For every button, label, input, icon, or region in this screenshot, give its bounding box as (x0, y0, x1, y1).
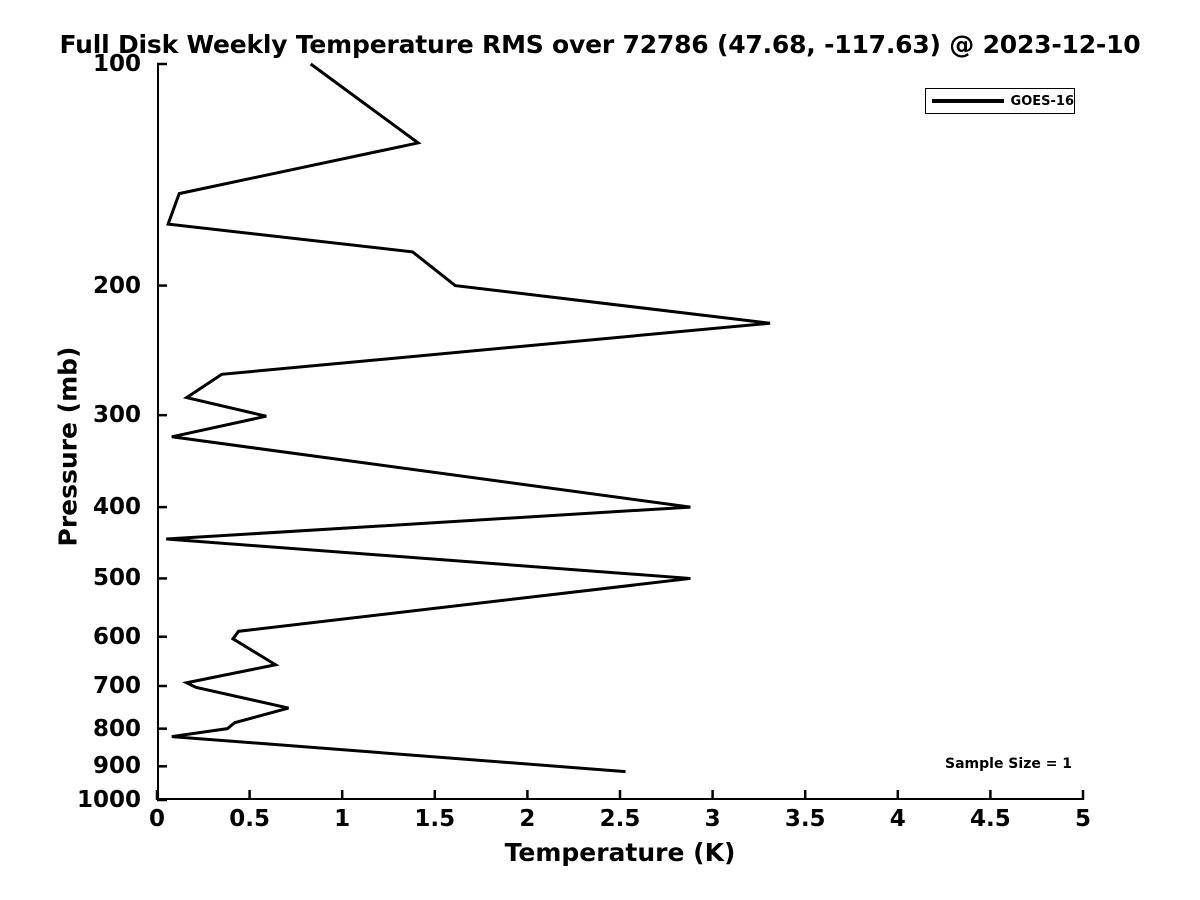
x-axis-tick-label: 4.5 (970, 806, 1011, 832)
legend-label-goes-16: GOES-16 (1011, 94, 1074, 109)
x-axis-tick-label: 1 (334, 806, 350, 832)
y-axis-tick-label: 600 (93, 624, 141, 650)
sample-size-annotation: Sample Size = 1 (945, 756, 1072, 772)
y-axis-tick-label: 700 (93, 673, 141, 699)
x-axis-tick-label: 3.5 (785, 806, 826, 832)
y-axis-label: Pressure (mb) (54, 327, 83, 567)
x-axis-label: Temperature (K) (157, 838, 1083, 867)
y-axis-tick-label: 100 (93, 51, 141, 77)
y-axis-tick-label: 1000 (77, 787, 141, 813)
x-axis-tick-label: 0.5 (229, 806, 270, 832)
x-axis-tick-label: 0 (149, 806, 165, 832)
legend: GOES-16 (925, 88, 1075, 114)
y-axis-tick-label: 200 (93, 273, 141, 299)
y-axis-tick-label: 500 (93, 565, 141, 591)
y-axis-tick-label: 400 (93, 494, 141, 520)
x-axis-tick-label: 2 (519, 806, 535, 832)
x-axis-tick-marks (157, 790, 1083, 800)
y-axis-tick-label: 900 (93, 753, 141, 779)
y-axis-tick-label: 800 (93, 716, 141, 742)
x-axis-tick-label: 5 (1075, 806, 1091, 832)
legend-line-swatch (932, 99, 1004, 103)
x-axis-tick-label: 1.5 (414, 806, 455, 832)
x-axis-tick-label: 4 (890, 806, 906, 832)
chart-page: Full Disk Weekly Temperature RMS over 72… (0, 0, 1200, 900)
y-axis-tick-label: 300 (93, 402, 141, 428)
x-axis-tick-label: 2.5 (600, 806, 641, 832)
x-axis-tick-label: 3 (705, 806, 721, 832)
data-series-goes-16 (166, 64, 770, 772)
y-axis-tick-marks (157, 64, 167, 800)
